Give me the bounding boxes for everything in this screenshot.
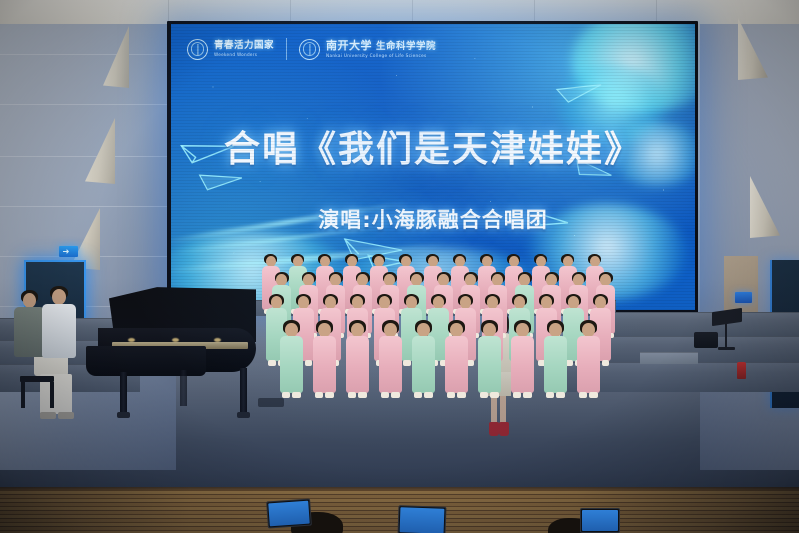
logo-divider — [286, 38, 287, 60]
choir-child-robe — [511, 336, 534, 393]
stage-photo-scene: 青春活力国家 Weekend Wonders 南开大学 生命科学学院 Nanka… — [0, 0, 799, 533]
seal-emblem-icon — [187, 39, 208, 60]
choir-child-shoe — [414, 392, 422, 398]
choir-child-head — [379, 296, 391, 309]
choir-child — [445, 320, 470, 409]
choir-child-shoe — [391, 392, 399, 398]
pianist-shoe — [58, 412, 74, 419]
choir-child-robe — [280, 336, 303, 393]
piano-bench — [20, 376, 54, 382]
choir-child-shoe — [348, 392, 356, 398]
logo-cn-college: 生命科学学院 — [376, 42, 436, 52]
piano-highlight — [172, 338, 179, 342]
fire-extinguisher — [737, 362, 746, 379]
choir-child — [511, 320, 536, 409]
stage-step — [640, 352, 698, 364]
led-logo-header: 青春活力国家 Weekend Wonders 南开大学 生命科学学院 Nanka… — [187, 38, 436, 60]
seal-emblem-icon — [299, 39, 320, 60]
choir-child-robe — [379, 336, 402, 393]
choir-child-head — [318, 323, 330, 337]
stage-monitor-speaker — [694, 332, 718, 348]
choir-child-head — [487, 296, 499, 309]
host-boot — [489, 422, 499, 436]
logo-weekend-wonders: 青春活力国家 Weekend Wonders — [187, 39, 274, 60]
choir-child-shoe — [579, 392, 587, 398]
logo-en-text: Nankai University College of Life Scienc… — [326, 54, 436, 58]
pianist-shoe — [40, 412, 56, 419]
choir-child — [346, 320, 371, 409]
choir-child-shoe — [358, 392, 366, 398]
choir-child-robe — [346, 336, 369, 393]
choir-child-shoe — [556, 392, 564, 398]
choir-child-head — [568, 296, 580, 309]
audience-device — [398, 505, 447, 533]
led-program-subtitle: 演唱:小海豚融合合唱团 — [171, 204, 695, 234]
choir-child-robe — [445, 336, 468, 393]
choir-child-shoe — [268, 360, 276, 366]
choir-child-head — [450, 323, 462, 337]
choir-child-shoe — [546, 392, 554, 398]
crew-head — [23, 293, 36, 308]
exit-sign-icon — [59, 246, 78, 257]
logo-en-text: Weekend Wonders — [214, 53, 274, 57]
piano-leg — [120, 372, 127, 414]
device-screen — [400, 507, 445, 533]
choir-child-shoe — [403, 360, 411, 366]
choir-child-head — [406, 296, 418, 309]
choir-child — [313, 320, 338, 409]
exit-sign-icon — [735, 292, 752, 303]
choir-child-shoe — [513, 392, 521, 398]
choir-child — [412, 320, 437, 409]
audience-device — [266, 498, 312, 528]
choir-child-head — [595, 296, 607, 309]
piano-leg — [180, 370, 187, 406]
choir-child-head — [582, 323, 594, 337]
piano-caster — [237, 412, 250, 418]
choir-child-shoe — [325, 392, 333, 398]
choir-child-robe — [412, 336, 435, 393]
bench-leg — [50, 382, 54, 408]
logo-cn-university: 南开大学 — [326, 40, 372, 51]
choir-child-shoe — [480, 392, 488, 398]
choir-child-shoe — [292, 392, 300, 398]
choir-child-head — [514, 296, 526, 309]
choir-child-head — [351, 323, 363, 337]
choir-child-shoe — [602, 360, 610, 366]
host-boot — [499, 422, 509, 436]
choir-child-robe — [478, 336, 501, 393]
choir-child-head — [549, 323, 561, 337]
choir-child-head — [384, 323, 396, 337]
piano-leg — [240, 368, 247, 414]
choir-child — [280, 320, 305, 409]
crew-shirt — [42, 304, 76, 358]
choir-child — [544, 320, 569, 409]
piano-front-panel — [86, 346, 206, 376]
choir-child-robe — [577, 336, 600, 393]
choir-child-head — [483, 323, 495, 337]
choir-child-shoe — [282, 392, 290, 398]
choir-child-shoe — [589, 392, 597, 398]
logo-nankai-life-sciences: 南开大学 生命科学学院 Nankai University College of… — [299, 39, 436, 60]
grand-piano — [76, 286, 256, 416]
choir-child-shoe — [305, 360, 313, 366]
piano-caster — [117, 412, 130, 418]
choir-child — [478, 320, 503, 409]
bench-leg — [21, 382, 25, 408]
choir-child-shoe — [381, 392, 389, 398]
device-screen — [268, 501, 310, 527]
piano-highlight — [128, 338, 135, 342]
choir-child-shoe — [447, 392, 455, 398]
choir-child-head — [417, 323, 429, 337]
crew-head — [52, 289, 66, 305]
choir-child-head — [433, 296, 445, 309]
device-screen — [582, 510, 618, 531]
audience-device — [580, 508, 620, 533]
choir-child-head — [516, 323, 528, 337]
piano-highlight — [214, 338, 221, 342]
choir-child-shoe — [523, 392, 531, 398]
choir-child-shoe — [457, 392, 465, 398]
choir-child-robe — [544, 336, 567, 393]
paper-airplane-icon — [199, 171, 244, 191]
crew-member-white — [40, 286, 78, 364]
choir-child — [379, 320, 404, 409]
choir-child-head — [285, 323, 297, 337]
choir-child-shoe — [490, 392, 498, 398]
choir-child-robe — [313, 336, 336, 393]
choir-child — [577, 320, 602, 409]
choir-child-head — [352, 296, 364, 309]
choir-child-head — [325, 296, 337, 309]
choir-child-head — [541, 296, 553, 309]
choir-child-head — [460, 296, 472, 309]
led-program-title: 合唱《我们是天津娃娃》 — [171, 120, 695, 172]
choir-child-shoe — [315, 392, 323, 398]
choir-child-head — [298, 296, 310, 309]
choir-child-shoe — [424, 392, 432, 398]
choir-child-head — [271, 296, 283, 309]
logo-cn-text: 青春活力国家 — [214, 41, 274, 51]
